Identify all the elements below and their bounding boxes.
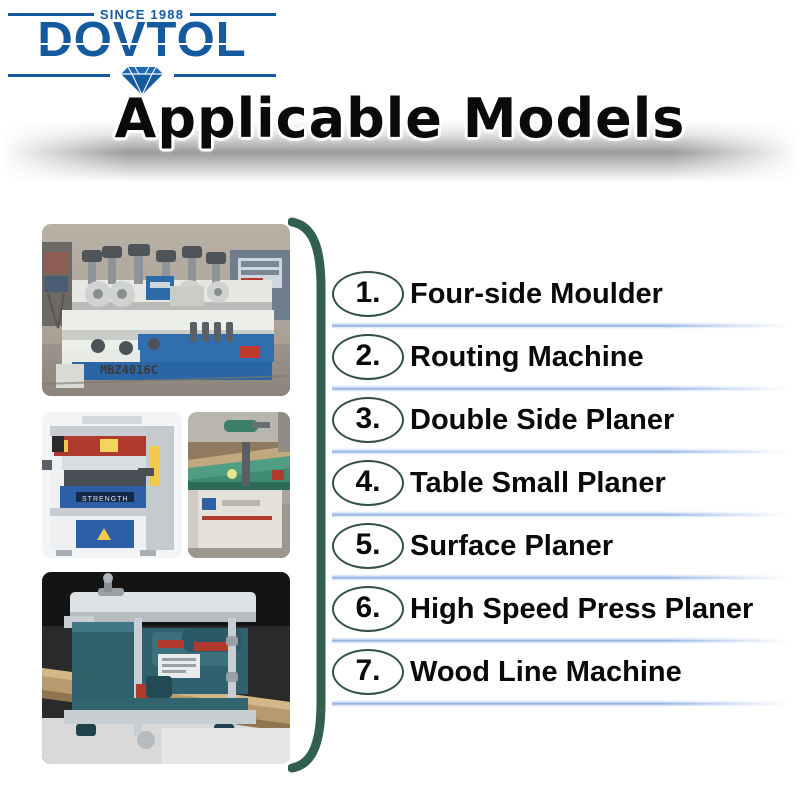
- model-number: 6.: [355, 593, 380, 625]
- model-label: Surface Planer: [410, 532, 613, 561]
- list-item[interactable]: 4. Table Small Planer: [332, 457, 792, 520]
- model-label: Four-side Moulder: [410, 280, 663, 309]
- model-number: 2.: [355, 341, 380, 373]
- model-number: 1.: [355, 278, 380, 310]
- row-separator: [332, 511, 790, 518]
- row-separator: [332, 322, 790, 329]
- model-number: 4.: [355, 467, 380, 499]
- model-number-badge: 5.: [332, 521, 404, 571]
- model-number-badge: 7.: [332, 647, 404, 697]
- brand-logo: SINCE 1988 DOVTOL: [8, 4, 276, 96]
- list-item[interactable]: 3. Double Side Planer: [332, 394, 792, 457]
- product-photo-column: MBZ4016C STRENGTH: [42, 224, 290, 764]
- bench-press-planer-photo: [42, 572, 290, 764]
- model-number-badge: 4.: [332, 458, 404, 508]
- green-divider-bracket: [288, 216, 334, 774]
- list-item[interactable]: 5. Surface Planer: [332, 520, 792, 583]
- model-label: Double Side Planer: [410, 406, 674, 435]
- model-number: 7.: [355, 656, 380, 688]
- model-number-badge: 2.: [332, 332, 404, 382]
- applicable-models-list: 1. Four-side Moulder 2. Routing Machine …: [332, 268, 792, 709]
- model-number-badge: 1.: [332, 269, 404, 319]
- model-label: Routing Machine: [410, 343, 644, 372]
- svg-text:STRENGTH: STRENGTH: [82, 496, 129, 503]
- row-separator: [332, 448, 790, 455]
- list-item[interactable]: 6. High Speed Press Planer: [332, 583, 792, 646]
- logo-wordmark: DOVTOL: [8, 16, 276, 65]
- row-separator: [332, 574, 790, 581]
- logo-bottom-rule-right: [174, 74, 276, 77]
- four-side-moulder-photo: MBZ4016C: [42, 224, 290, 396]
- row-separator: [332, 637, 790, 644]
- model-number: 5.: [355, 530, 380, 562]
- surface-planer-photo: [188, 412, 290, 558]
- thickness-planer-photo: STRENGTH: [42, 412, 182, 558]
- model-label: High Speed Press Planer: [410, 595, 753, 624]
- list-item[interactable]: 2. Routing Machine: [332, 331, 792, 394]
- page-title: Applicable Models: [0, 92, 800, 146]
- row-separator: [332, 700, 790, 707]
- model-label: Table Small Planer: [410, 469, 666, 498]
- model-number-badge: 3.: [332, 395, 404, 445]
- model-number-badge: 6.: [332, 584, 404, 634]
- model-number: 3.: [355, 404, 380, 436]
- logo-bottom-rule-left: [8, 74, 110, 77]
- list-item[interactable]: 1. Four-side Moulder: [332, 268, 792, 331]
- model-label: Wood Line Machine: [410, 658, 682, 687]
- list-item[interactable]: 7. Wood Line Machine: [332, 646, 792, 709]
- svg-text:MBZ4016C: MBZ4016C: [100, 363, 158, 377]
- row-separator: [332, 385, 790, 392]
